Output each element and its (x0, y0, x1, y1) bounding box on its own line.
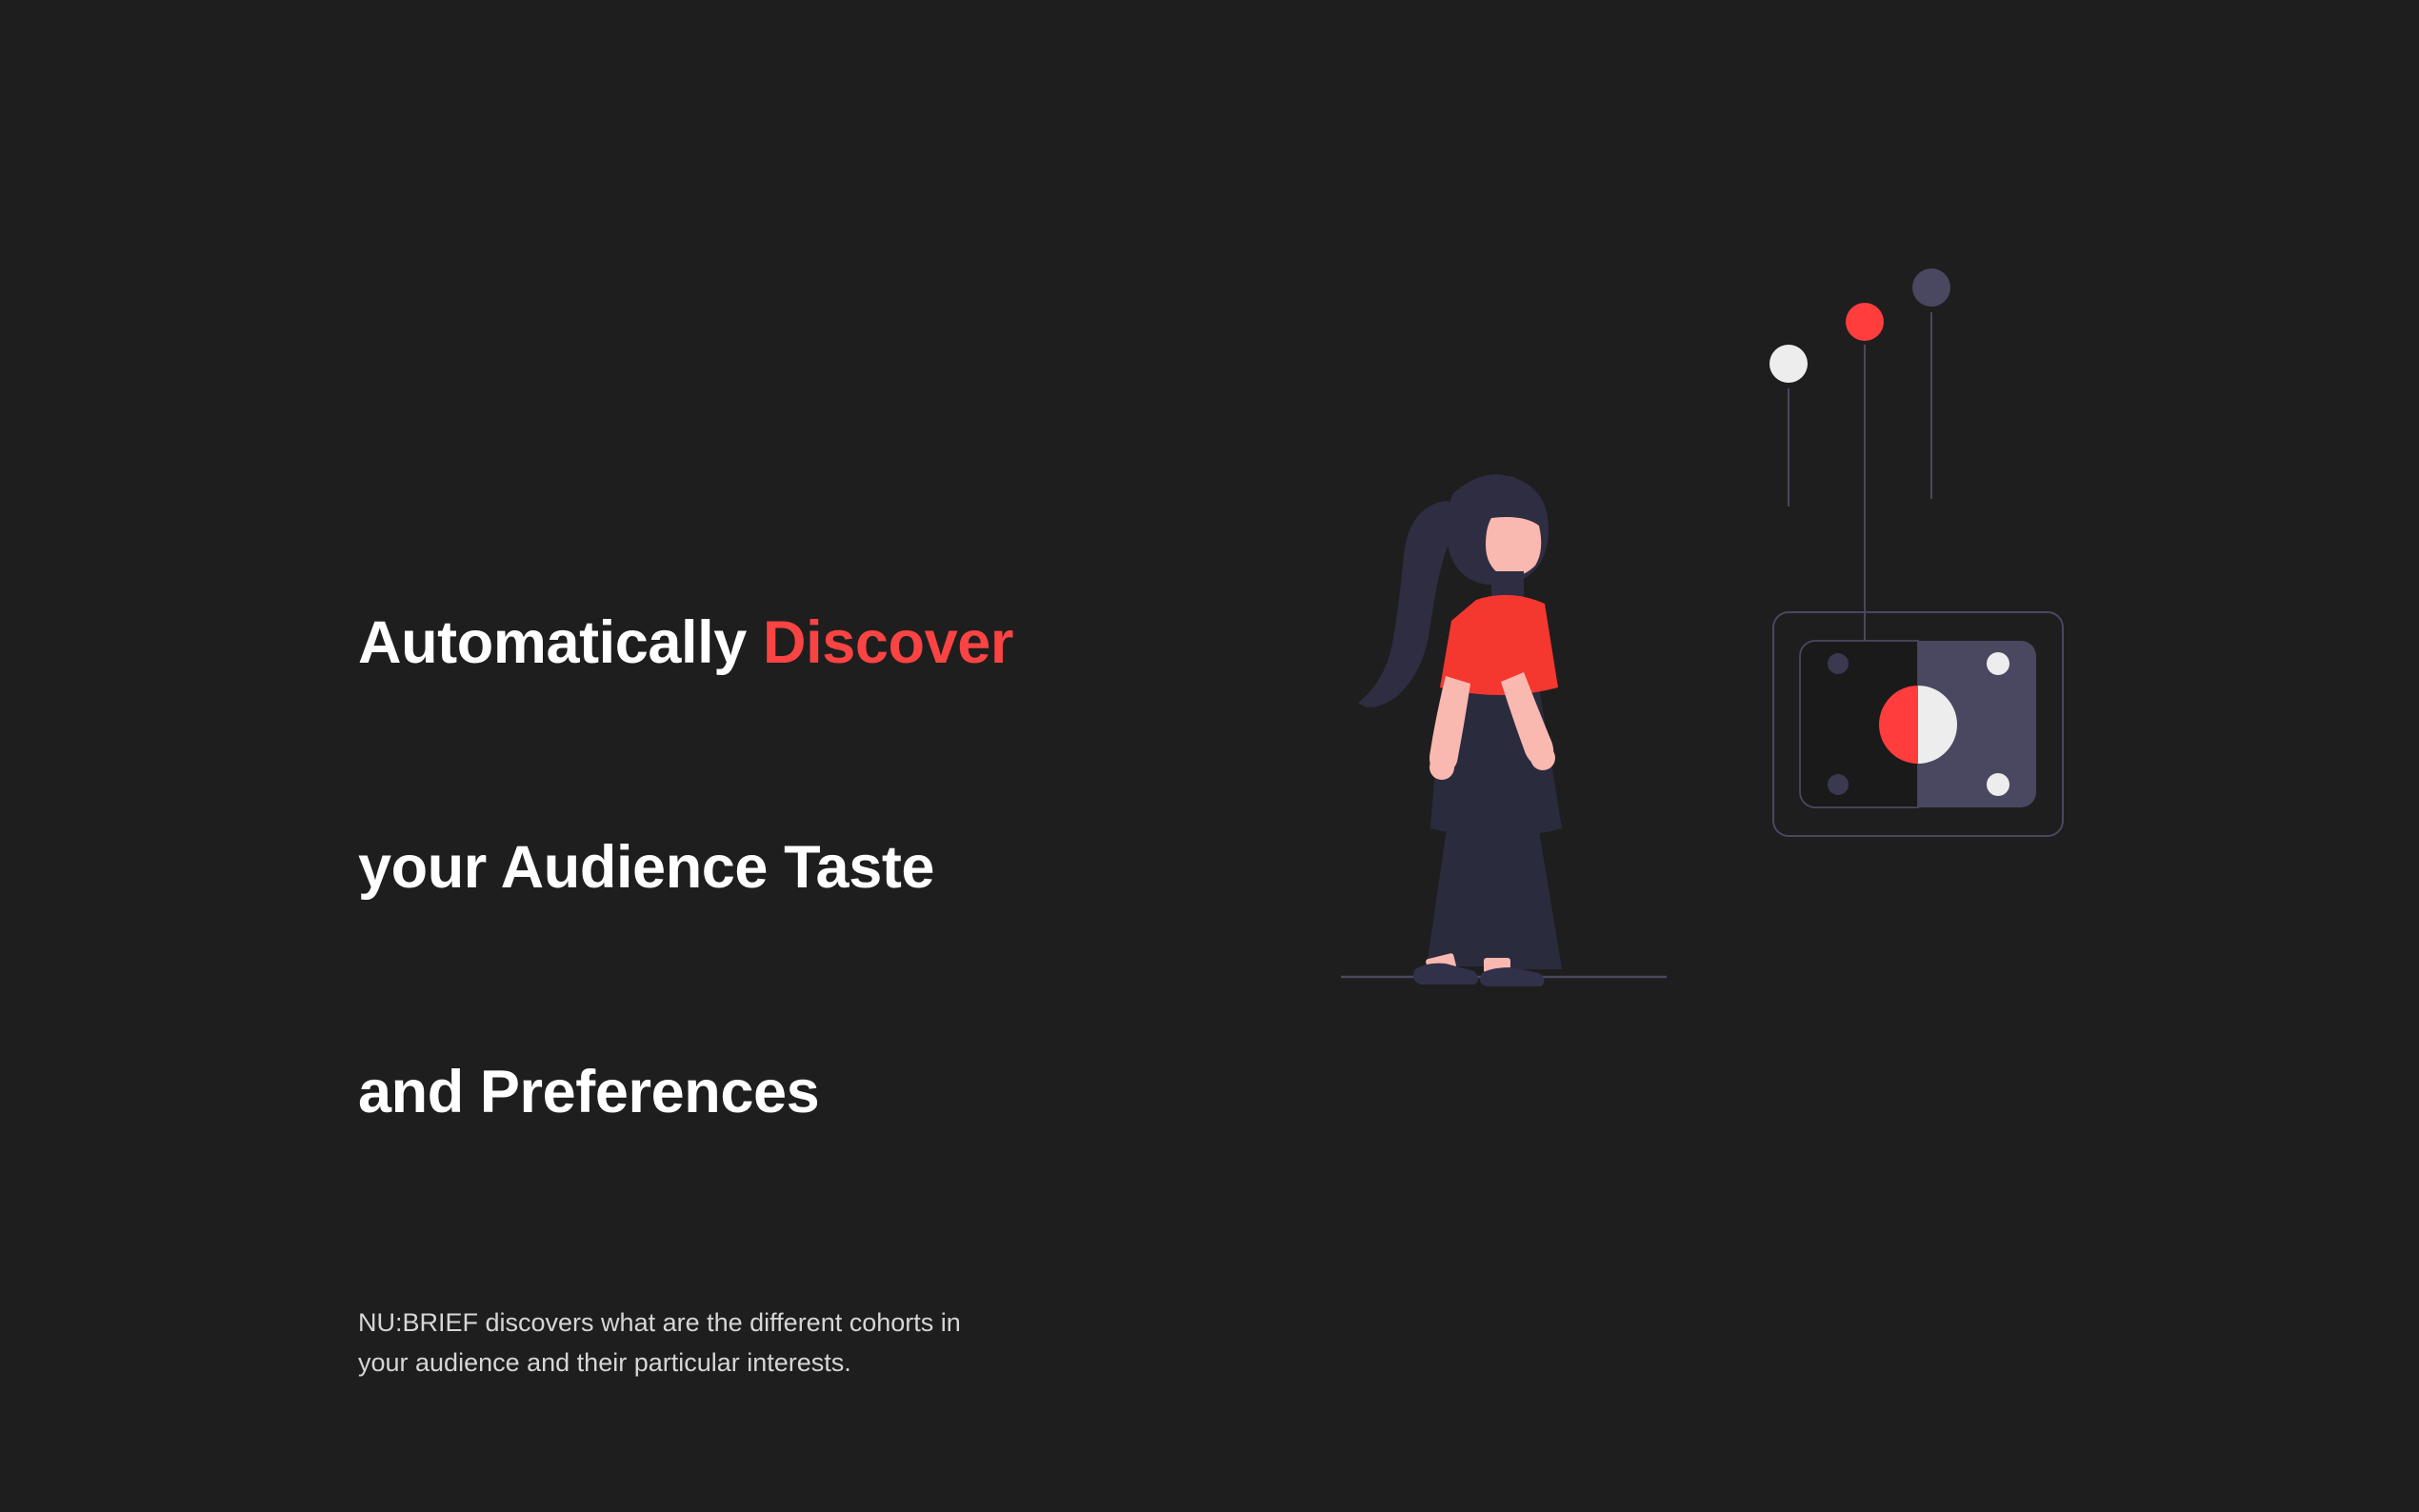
hero-text-column: Automatically Discover your Audience Tas… (358, 474, 1368, 1383)
hero-illustration (1371, 448, 2133, 1057)
woman-hand-left (1429, 755, 1454, 780)
walking-woman-figure (1358, 474, 1562, 986)
headline-line-2: your Audience Taste (358, 811, 1368, 924)
analytics-panel-graphic (1769, 269, 2063, 836)
hero-subtitle: NU:BRIEF discovers what are the differen… (358, 1261, 1344, 1383)
woman-face (1486, 517, 1541, 577)
pin-white-icon (1769, 345, 1808, 383)
headline-line-1: Automatically Discover (358, 587, 1368, 699)
pin-purple-icon (1912, 269, 1950, 307)
subtitle-line-2: your audience and their particular inter… (358, 1343, 1344, 1383)
panel-corner-dot-bottom-left (1828, 774, 1849, 795)
woman-hand-right (1530, 746, 1555, 770)
headline-accent-word: Discover (763, 609, 1013, 676)
page-title: Automatically Discover your Audience Tas… (358, 474, 1368, 1261)
pin-red-icon (1846, 303, 1884, 341)
headline-plain-text: Automatically (358, 609, 763, 676)
panel-corner-dot-top-left (1828, 653, 1849, 674)
hero-section: Automatically Discover your Audience Tas… (0, 0, 2419, 1512)
headline-line-3: and Preferences (358, 1036, 1368, 1148)
subtitle-line-1: NU:BRIEF discovers what are the differen… (358, 1303, 1344, 1343)
illustration-svg (1371, 448, 2133, 1057)
panel-corner-dot-bottom-right (1987, 773, 2009, 796)
woman-shoe-right (1480, 967, 1545, 986)
panel-corner-dot-top-right (1987, 652, 2009, 675)
